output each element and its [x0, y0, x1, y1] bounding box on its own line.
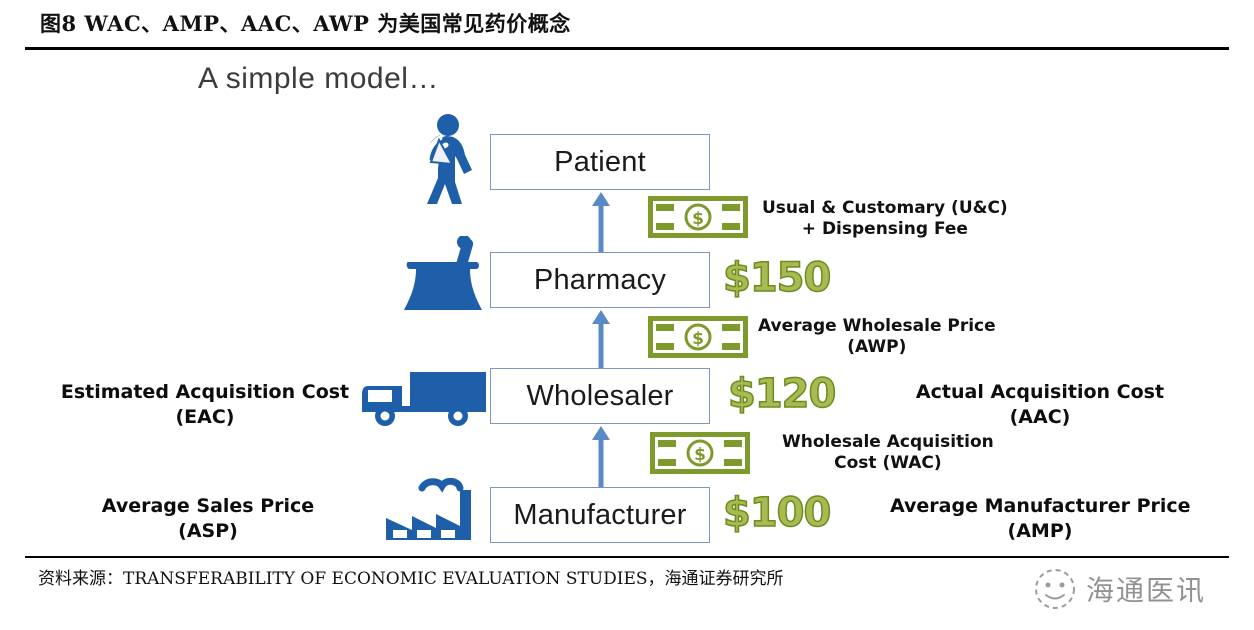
arrow-wholesaler-to-pharmacy-icon [590, 308, 612, 368]
money-flow-usual-customary: $ Usual & Customary (U&C) + Dispensing F… [648, 196, 1008, 241]
money-flow-average-wholesale-price: $ Average Wholesale Price (AWP) [648, 316, 996, 359]
side-label-aac: Actual Acquisition Cost (AAC) [905, 380, 1175, 429]
side-label-line1: Average Sales Price [102, 495, 314, 517]
flow-node-wholesaler[interactable]: Wholesaler [490, 368, 710, 424]
watermark-text: 海通医讯 [1086, 569, 1206, 609]
side-label-line2: (EAC) [176, 406, 235, 428]
money-caption-line1: Average Wholesale Price [758, 316, 996, 336]
figure-title: 图8 WAC、AMP、AAC、AWP 为美国常见药价概念 [40, 8, 571, 38]
flow-node-manufacturer[interactable]: Manufacturer [490, 487, 710, 543]
diagram-caption: A simple model… [198, 62, 439, 96]
delivery-truck-icon [358, 368, 492, 428]
flow-node-label: Patient [554, 148, 646, 177]
dollar-bill-icon: $ [650, 432, 750, 474]
money-flow-caption: Average Wholesale Price (AWP) [758, 316, 996, 359]
side-label-line2: (ASP) [178, 520, 238, 542]
svg-text:$: $ [692, 329, 704, 349]
flow-node-label: Wholesaler [526, 382, 673, 411]
dollar-bill-icon: $ [648, 316, 748, 358]
side-label-line1: Average Manufacturer Price [890, 495, 1191, 517]
money-caption-line1: Usual & Customary (U&C) [762, 198, 1008, 218]
circle-logo-icon [1032, 566, 1078, 612]
money-caption-line1: Wholesale Acquisition [782, 432, 994, 452]
price-pharmacy: $150 [723, 258, 830, 298]
money-caption-line2: Cost (WAC) [834, 453, 941, 473]
flow-node-patient[interactable]: Patient [490, 134, 710, 190]
side-label-amp: Average Manufacturer Price (AMP) [890, 494, 1190, 543]
patient-with-sling-icon [400, 112, 492, 204]
source-line: 资料来源：TRANSFERABILITY OF ECONOMIC EVALUAT… [38, 564, 784, 589]
price-wholesaler: $120 [728, 374, 835, 414]
side-label-line2: (AAC) [1010, 406, 1071, 428]
flow-node-label: Manufacturer [513, 501, 686, 530]
watermark: 海通医讯 [1032, 556, 1242, 622]
side-label-eac: Estimated Acquisition Cost (EAC) [60, 380, 350, 429]
side-label-asp: Average Sales Price (ASP) [98, 494, 318, 543]
money-flow-wholesale-acquisition-cost: $ Wholesale Acquisition Cost (WAC) [650, 432, 994, 475]
side-label-line1: Estimated Acquisition Cost [61, 381, 349, 403]
mortar-and-pestle-icon [398, 236, 494, 320]
flow-node-pharmacy[interactable]: Pharmacy [490, 252, 710, 308]
svg-text:$: $ [692, 209, 704, 229]
price-flow-diagram: A simple model… [0, 50, 1254, 555]
svg-text:$: $ [694, 445, 706, 465]
money-caption-line2: (AWP) [847, 337, 906, 357]
side-label-line1: Actual Acquisition Cost [916, 381, 1164, 403]
money-flow-caption: Wholesale Acquisition Cost (WAC) [782, 432, 994, 475]
factory-icon [374, 478, 494, 546]
flow-node-label: Pharmacy [534, 266, 666, 295]
price-manufacturer: $100 [723, 493, 830, 533]
side-label-line2: (AMP) [1008, 520, 1073, 542]
money-caption-line2: + Dispensing Fee [802, 219, 968, 239]
money-flow-caption: Usual & Customary (U&C) + Dispensing Fee [762, 196, 1008, 241]
arrow-pharmacy-to-patient-icon [590, 190, 612, 252]
arrow-manufacturer-to-wholesaler-icon [590, 424, 612, 487]
dollar-bill-icon: $ [648, 196, 748, 238]
